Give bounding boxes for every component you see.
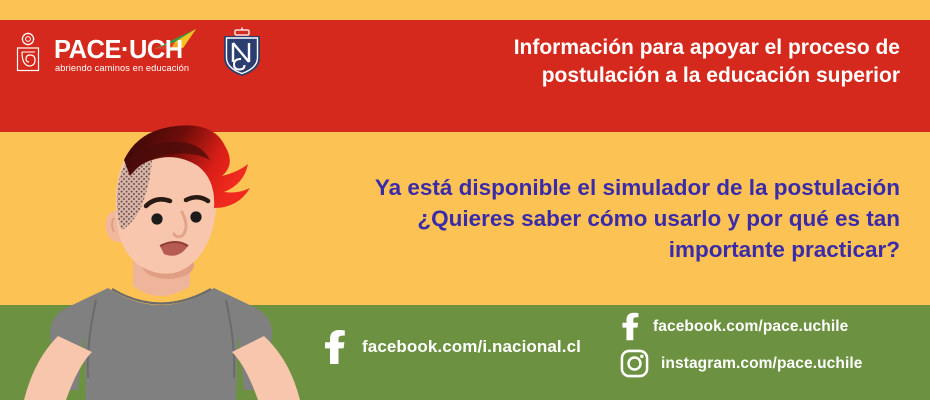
facebook-nacional-label[interactable]: facebook.com/i.nacional.cl <box>362 337 581 357</box>
band-top-yellow <box>0 0 930 20</box>
facebook-icon[interactable] <box>322 330 348 364</box>
facebook-icon[interactable] <box>620 312 641 341</box>
pace-tagline: abriendo caminos en educación <box>55 63 189 73</box>
main-line-3: importante practicar? <box>275 234 900 265</box>
header-title: Información para apoyar el proceso de po… <box>400 34 900 90</box>
facebook-pace-label[interactable]: facebook.com/pace.uchile <box>653 318 848 336</box>
header-line-1: Información para apoyar el proceso de <box>400 34 900 62</box>
social-right-group: facebook.com/pace.uchile instagram.com/p… <box>620 312 863 378</box>
main-line-1: Ya está disponible el simulador de la po… <box>275 172 900 203</box>
universidad-de-chile-seal <box>14 32 42 72</box>
logo-row: PACE·UCH abriendo caminos en educación <box>14 26 264 78</box>
social-row-instagram: instagram.com/pace.uchile <box>620 349 863 378</box>
instagram-icon[interactable] <box>620 349 649 378</box>
promotional-banner: PACE·UCH abriendo caminos en educación I… <box>0 0 930 400</box>
pace-wordmark: PACE·UCH <box>54 38 183 63</box>
social-row-facebook: facebook.com/pace.uchile <box>620 312 863 341</box>
instituto-nacional-shield <box>220 26 264 78</box>
pace-lockup: PACE·UCH abriendo caminos en educación <box>54 30 202 74</box>
social-left-group: facebook.com/i.nacional.cl <box>322 330 581 364</box>
instagram-pace-label[interactable]: instagram.com/pace.uchile <box>661 355 863 373</box>
main-message: Ya está disponible el simulador de la po… <box>275 172 900 265</box>
main-line-2: ¿Quieres saber cómo usarlo y por qué es … <box>275 203 900 234</box>
header-line-2: postulación a la educación superior <box>400 62 900 90</box>
